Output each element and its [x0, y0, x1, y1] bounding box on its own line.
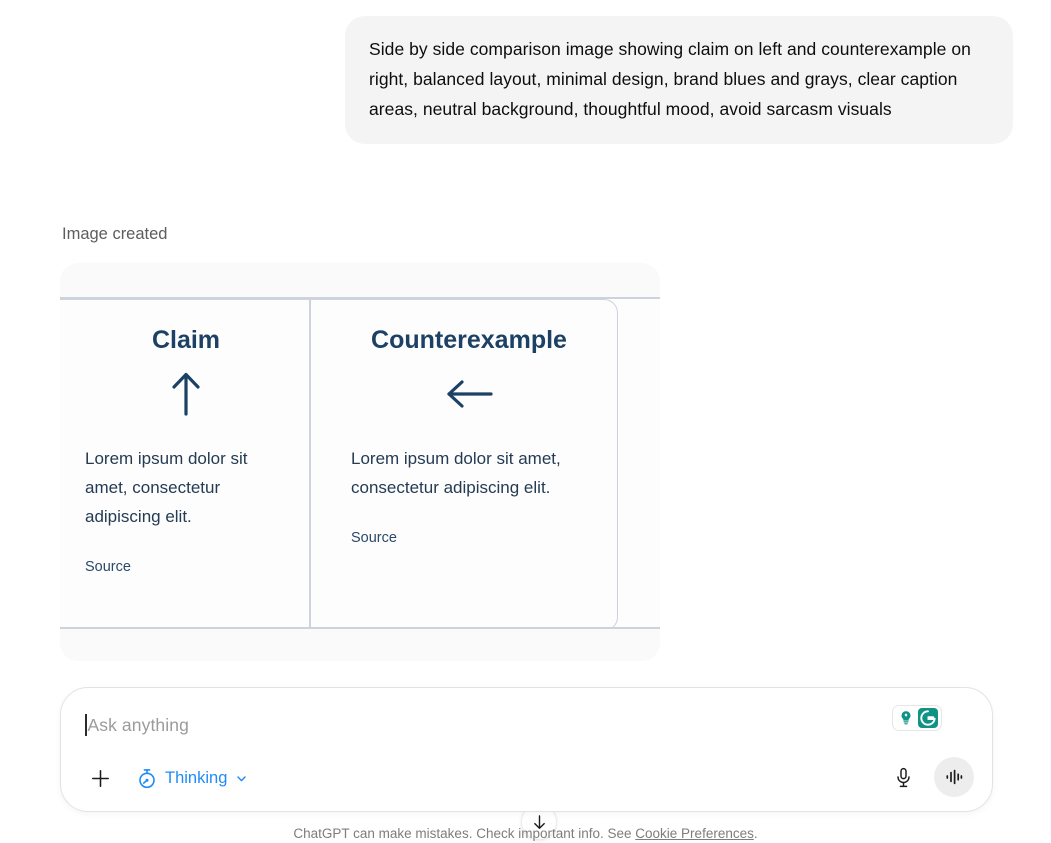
panel-counterexample: Counterexample Lorem ipsum dolor sit ame… [309, 300, 617, 629]
chatgpt-window: Side by side comparison image showing cl… [0, 0, 1051, 843]
thinking-label: Thinking [165, 767, 227, 789]
lightbulb-icon[interactable] [895, 707, 917, 729]
assistant-message: Image created Claim Lorem ipsum dolor si… [60, 222, 680, 661]
grammarly-badge[interactable] [892, 705, 942, 731]
generated-image-card[interactable]: Claim Lorem ipsum dolor sit amet, consec… [60, 263, 660, 661]
footer-text-after: . [754, 826, 758, 841]
footer-text-before: ChatGPT can make mistakes. Check importa… [293, 826, 635, 841]
add-attachment-button[interactable] [83, 761, 117, 795]
stopwatch-icon [137, 768, 157, 789]
microphone-icon [894, 767, 913, 788]
voice-waveform-icon [943, 766, 965, 788]
arrow-up-icon [168, 370, 204, 416]
composer-placeholder[interactable]: Ask anything [88, 712, 189, 738]
composer-tools: Thinking [83, 761, 250, 795]
panel-counterexample-title: Counterexample [351, 324, 587, 356]
generated-image[interactable]: Claim Lorem ipsum dolor sit amet, consec… [60, 297, 660, 629]
arrow-left-icon [443, 370, 495, 416]
text-caret [85, 714, 87, 736]
composer-input-row[interactable]: Ask anything [85, 708, 905, 742]
voice-mode-button[interactable] [934, 757, 974, 797]
user-message-row: Side by side comparison image showing cl… [345, 16, 1013, 144]
panel-claim-body: Lorem ipsum dolor sit amet, consectetur … [85, 444, 287, 531]
cookie-preferences-link[interactable]: Cookie Preferences [635, 826, 754, 841]
panel-counterexample-body: Lorem ipsum dolor sit amet, consectetur … [351, 444, 561, 502]
comparison-graphic: Claim Lorem ipsum dolor sit amet, consec… [60, 299, 618, 629]
plus-icon [90, 768, 111, 789]
chevron-down-icon [235, 772, 248, 785]
panel-counterexample-source: Source [351, 528, 587, 548]
message-composer[interactable]: Ask anything Thinking [60, 687, 993, 812]
panel-claim-title: Claim [85, 324, 287, 356]
footer-disclaimer: ChatGPT can make mistakes. Check importa… [0, 824, 1051, 843]
panel-claim-source: Source [85, 557, 287, 577]
grammarly-g-icon[interactable] [917, 707, 939, 729]
thinking-mode-selector[interactable]: Thinking [135, 763, 250, 793]
microphone-button[interactable] [886, 760, 920, 794]
image-created-label: Image created [62, 222, 680, 246]
panel-claim: Claim Lorem ipsum dolor sit amet, consec… [60, 300, 309, 629]
user-message-bubble: Side by side comparison image showing cl… [345, 16, 1013, 144]
composer-actions [886, 757, 974, 797]
conversation-area: Side by side comparison image showing cl… [0, 0, 1051, 670]
